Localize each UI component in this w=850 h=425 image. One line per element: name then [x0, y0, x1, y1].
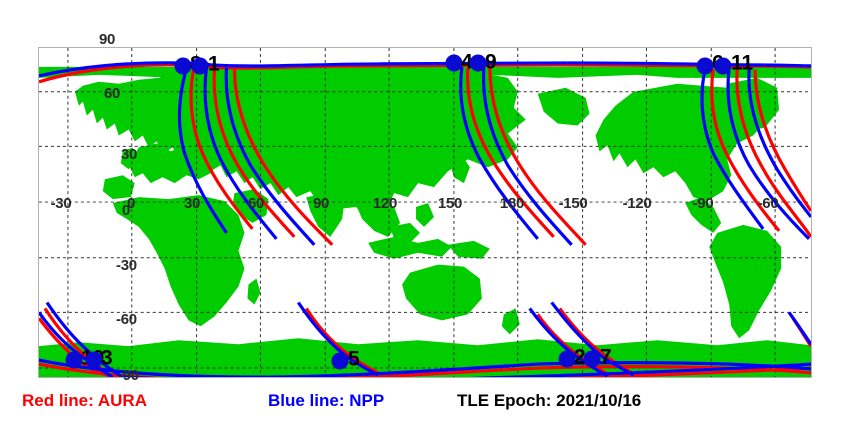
pass-marker-dot-7[interactable] — [584, 351, 601, 368]
lat-tick-neg90: -90 — [118, 368, 139, 383]
ground-track-chart: 90 60 30 0 -30 -60 -90 -30 0 30 60 90 12… — [0, 0, 850, 425]
pass-marker-dot-9[interactable] — [470, 55, 487, 72]
lon-tick-neg120: -120 — [614, 196, 660, 211]
lat-tick-30: 30 — [121, 147, 137, 162]
lat-tick-60: 60 — [104, 86, 120, 101]
pass-marker-dot-11[interactable] — [715, 58, 732, 75]
lon-tick-neg30: -30 — [41, 196, 81, 211]
lon-tick-30: 30 — [177, 196, 207, 211]
map-plot-area — [38, 47, 812, 378]
lon-tick-180: 180 — [493, 196, 531, 211]
pass-marker-label-1: 1 — [208, 54, 220, 75]
pass-marker-label-11: 11 — [731, 53, 753, 74]
pass-marker-dot-5[interactable] — [332, 353, 349, 370]
lat-tick-90: 90 — [99, 32, 115, 47]
lon-tick-90: 90 — [306, 196, 336, 211]
legend-blue-line-npp: Blue line: NPP — [268, 392, 384, 409]
lon-tick-60: 60 — [241, 196, 271, 211]
pass-marker-dot-8[interactable] — [175, 58, 192, 75]
pass-marker-dot-1[interactable] — [192, 58, 209, 75]
pass-marker-dot-4[interactable] — [446, 55, 463, 72]
pass-marker-label-7: 7 — [600, 347, 612, 368]
pass-marker-label-5: 5 — [348, 349, 360, 370]
lat-tick-neg30: -30 — [116, 258, 137, 273]
legend-red-line-aura: Red line: AURA — [22, 392, 147, 409]
pass-marker-dot-6[interactable] — [697, 58, 714, 75]
pass-marker-label-3: 3 — [101, 348, 113, 369]
world-map-svg — [39, 48, 811, 377]
lon-tick-neg60: -60 — [748, 196, 788, 211]
lat-tick-neg60: -60 — [116, 312, 137, 327]
lon-tick-120: 120 — [366, 196, 404, 211]
pass-marker-dot-10[interactable] — [66, 352, 83, 369]
lon-tick-neg150: -150 — [550, 196, 596, 211]
chart-legend: Red line: AURA Blue line: NPP TLE Epoch:… — [0, 392, 850, 420]
pass-marker-dot-3[interactable] — [86, 352, 103, 369]
lon-tick-150: 150 — [431, 196, 469, 211]
legend-tle-epoch: TLE Epoch: 2021/10/16 — [457, 392, 641, 409]
pass-marker-dot-2[interactable] — [559, 351, 576, 368]
lon-tick-neg90: -90 — [683, 196, 723, 211]
lon-tick-0: 0 — [116, 196, 146, 211]
pass-marker-label-9: 9 — [485, 52, 497, 73]
